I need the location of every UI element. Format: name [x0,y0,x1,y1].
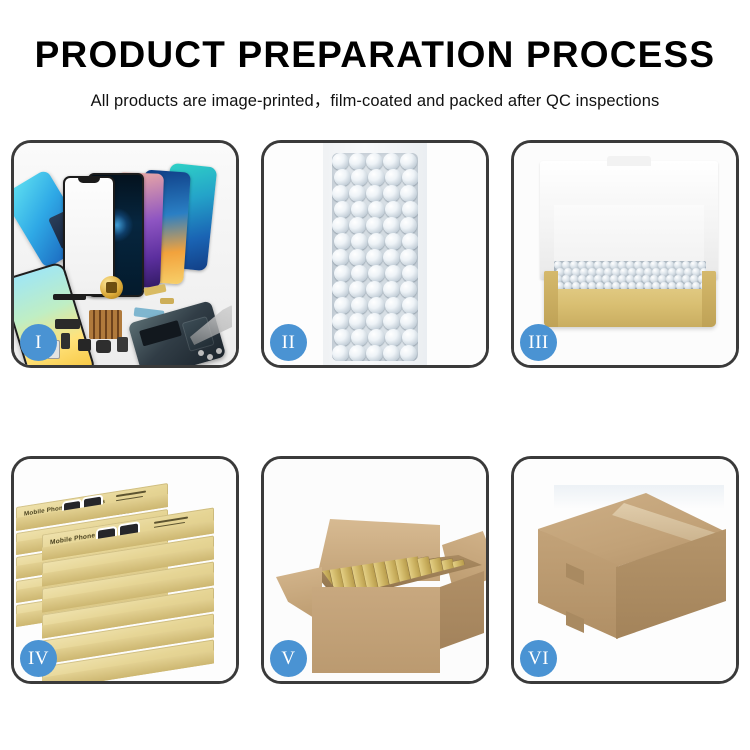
tray-bubble-cell [620,282,628,289]
page-title: PRODUCT PREPARATION PROCESS [0,36,750,75]
bubble-cell [332,281,349,298]
connector-part-d-icon [96,340,111,353]
tray-bubble-cell [596,282,604,289]
bubble-cell [402,201,419,218]
bubble-cell [366,313,383,330]
tray-right-lip-icon [702,271,716,327]
tray-bubble-cell [572,282,580,289]
bubble-cell [383,217,400,234]
bubble-cell [368,233,385,250]
bubble-cell [349,153,366,170]
battery-connector-icon [117,337,128,352]
bubble-cell [385,169,402,186]
bubble-cell [332,217,349,234]
bubble-cell [332,313,349,330]
bubble-cell [368,297,385,314]
screws-icon [198,348,224,360]
bubble-cell [385,265,402,282]
process-step-grid: I II III [11,140,739,684]
bubble-cell [385,297,402,314]
bubble-cell [351,297,368,314]
bubble-cell [385,233,402,250]
bubble-cell [351,169,368,186]
tray-contents-icon [554,261,706,289]
tray-bubble-cell [692,282,700,289]
bubble-cell [349,217,366,234]
kraft-tray-icon [544,271,716,327]
process-step-4: Mobile Phone Spare PartsMobile Phone Spa… [11,456,239,684]
step-badge-1: I [20,324,57,361]
step-badge-4: IV [20,640,57,677]
tray-bubble-cell [636,282,644,289]
bubble-cell [383,313,400,330]
process-step-1: I [11,140,239,368]
bubble-cell [383,249,400,266]
bubble-cell [400,345,417,361]
tray-bubble-cell [628,282,636,289]
process-step-3: III [511,140,739,368]
bubble-cell [351,201,368,218]
bubble-cell [349,249,366,266]
tray-bubble-cell [564,282,572,289]
bubble-cell [351,233,368,250]
chip-array-icon [89,310,122,339]
page-subtitle: All products are image-printed，film-coat… [0,87,750,111]
bubble-cell [368,329,385,346]
tray-bubble-cell [612,282,620,289]
tray-bubble-cell [668,282,676,289]
lid-tab-icon [607,156,651,166]
bubble-cell [366,249,383,266]
bubble-cell [349,313,366,330]
page-header: PRODUCT PREPARATION PROCESS All products… [0,0,750,111]
bubble-cell [402,329,419,346]
bubble-cell [368,265,385,282]
bubble-cell [400,217,417,234]
bubble-cell [366,153,383,170]
bubble-cell [334,297,351,314]
tray-bubble-cell [676,282,684,289]
bubble-cell [334,265,351,282]
bubble-field-icon [332,153,418,361]
process-step-5: V [261,456,489,684]
tray-bubble-cell [652,282,660,289]
bubble-cell [400,185,417,202]
bubble-cell [349,185,366,202]
bubble-cell [366,185,383,202]
step-badge-3: III [520,324,557,361]
bubble-cell [349,281,366,298]
connector-part-c-icon [78,339,91,351]
bubble-cell [383,345,400,361]
connector-part-b-icon [61,333,70,349]
bubble-cell [385,329,402,346]
bubble-cell [351,265,368,282]
bubble-cell [368,169,385,186]
bubble-cell [402,233,419,250]
bubble-cell [334,169,351,186]
bubble-cell [351,329,368,346]
tray-bubble-cell [604,282,612,289]
bubble-cell [334,233,351,250]
connector-part-a-icon [55,319,80,329]
bubble-cell [334,201,351,218]
bubble-cell [383,281,400,298]
tray-left-lip-icon [544,271,558,327]
tray-bubble-cell [580,282,588,289]
process-step-2: II [261,140,489,368]
bubble-cell [402,297,419,314]
bubble-cell [332,185,349,202]
bubble-cell [334,329,351,346]
bubble-cell [400,281,417,298]
bubble-cell [366,281,383,298]
carton-front-face-icon [312,587,440,673]
step-badge-2: II [270,324,307,361]
bubble-cell [349,345,366,361]
tray-bubble-cell [588,282,596,289]
bubble-cell [366,217,383,234]
vibration-motor-icon [100,276,123,299]
bubble-cell [332,345,349,361]
tray-bubble-cell [660,282,668,289]
bubble-cell [402,265,419,282]
carton-right-face-icon [440,571,484,649]
bubble-cell [402,169,419,186]
bubble-cell [400,153,417,170]
flex-cable-2-icon [160,298,174,304]
bubble-cell [385,201,402,218]
tray-bubble-cell [644,282,652,289]
bubble-cell [383,185,400,202]
step-badge-6: VI [520,640,557,677]
step-badge-5: V [270,640,307,677]
bubble-cell [400,249,417,266]
tray-bubble-cell [684,282,692,289]
bubble-cell [332,249,349,266]
bubble-cell [400,313,417,330]
bubble-cell [366,345,383,361]
earpiece-speaker-icon [53,294,86,300]
process-step-6: VI [511,456,739,684]
bubble-cell [368,201,385,218]
bubble-cell [332,153,349,170]
bubble-cell [383,153,400,170]
